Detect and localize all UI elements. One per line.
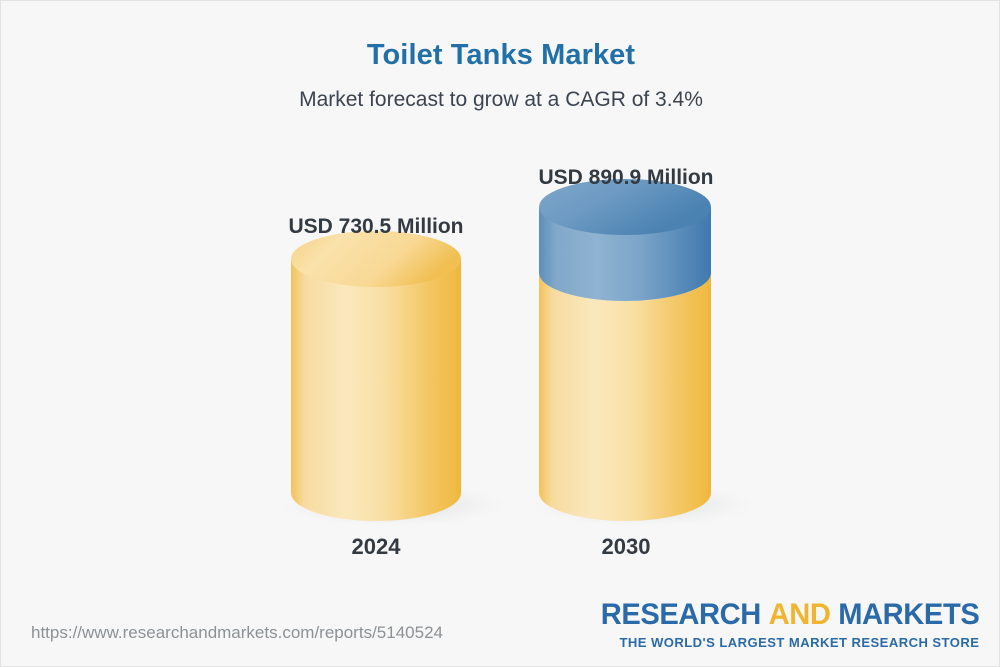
brand-logo[interactable]: RESEARCH AND MARKETS THE WORLD'S LARGEST… [589,600,979,649]
chart-canvas: Toilet Tanks Market Market forecast to g… [0,0,1000,667]
brand-word-research: RESEARCH [600,598,760,631]
brand-tagline: THE WORLD'S LARGEST MARKET RESEARCH STOR… [593,636,979,649]
bar-cylinder-2024[interactable] [281,231,505,527]
bar-segment-base-2030 [539,273,711,521]
bar-top-2024 [291,231,461,287]
category-label-2030: 2030 [501,534,751,560]
brand-wordmark: RESEARCH AND MARKETS [600,600,979,630]
chart-plot-area [1,1,1000,667]
bar-body-2024 [291,259,461,521]
source-url-link[interactable]: https://www.researchandmarkets.com/repor… [31,623,443,643]
brand-word-markets: MARKETS [838,598,979,631]
value-label-2024: USD 730.5 Million [251,215,501,239]
bar-cylinder-2030[interactable] [530,179,754,527]
category-label-2024: 2024 [251,534,501,560]
brand-word-and: AND [768,598,830,631]
value-label-2030: USD 890.9 Million [501,166,751,190]
